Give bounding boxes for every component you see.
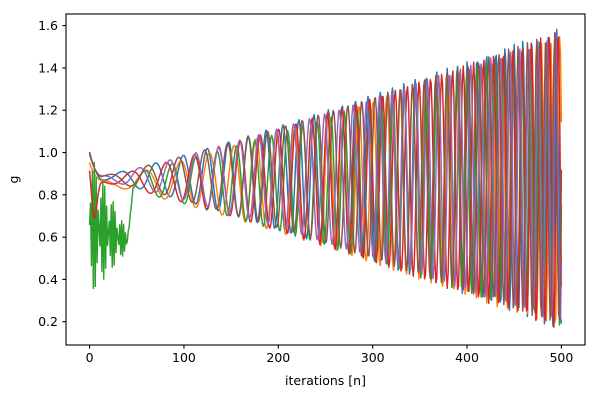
y-tick-label: 0.8 (38, 187, 58, 202)
x-tick-label: 100 (172, 350, 196, 365)
y-axis-title: g (6, 176, 21, 184)
y-tick-label: 0.6 (38, 230, 58, 245)
y-tick-label: 1.4 (38, 60, 58, 75)
x-tick-label: 300 (361, 350, 385, 365)
x-tick-label: 400 (455, 350, 479, 365)
y-tick-label: 1.6 (38, 18, 58, 33)
y-tick-label: 1.2 (38, 103, 58, 118)
matplotlib-figure: 0100200300400500 0.20.40.60.81.01.21.41.… (0, 0, 600, 400)
x-tick-label: 0 (86, 350, 94, 365)
y-tick-label: 0.2 (38, 314, 58, 329)
y-tick-label: 1.0 (38, 145, 58, 160)
y-tick-label: 0.4 (38, 272, 58, 287)
line-chart: 0100200300400500 0.20.40.60.81.01.21.41.… (0, 0, 600, 400)
x-tick-label: 500 (549, 350, 573, 365)
x-tick-label: 200 (266, 350, 290, 365)
x-axis-title: iterations [n] (285, 373, 366, 388)
